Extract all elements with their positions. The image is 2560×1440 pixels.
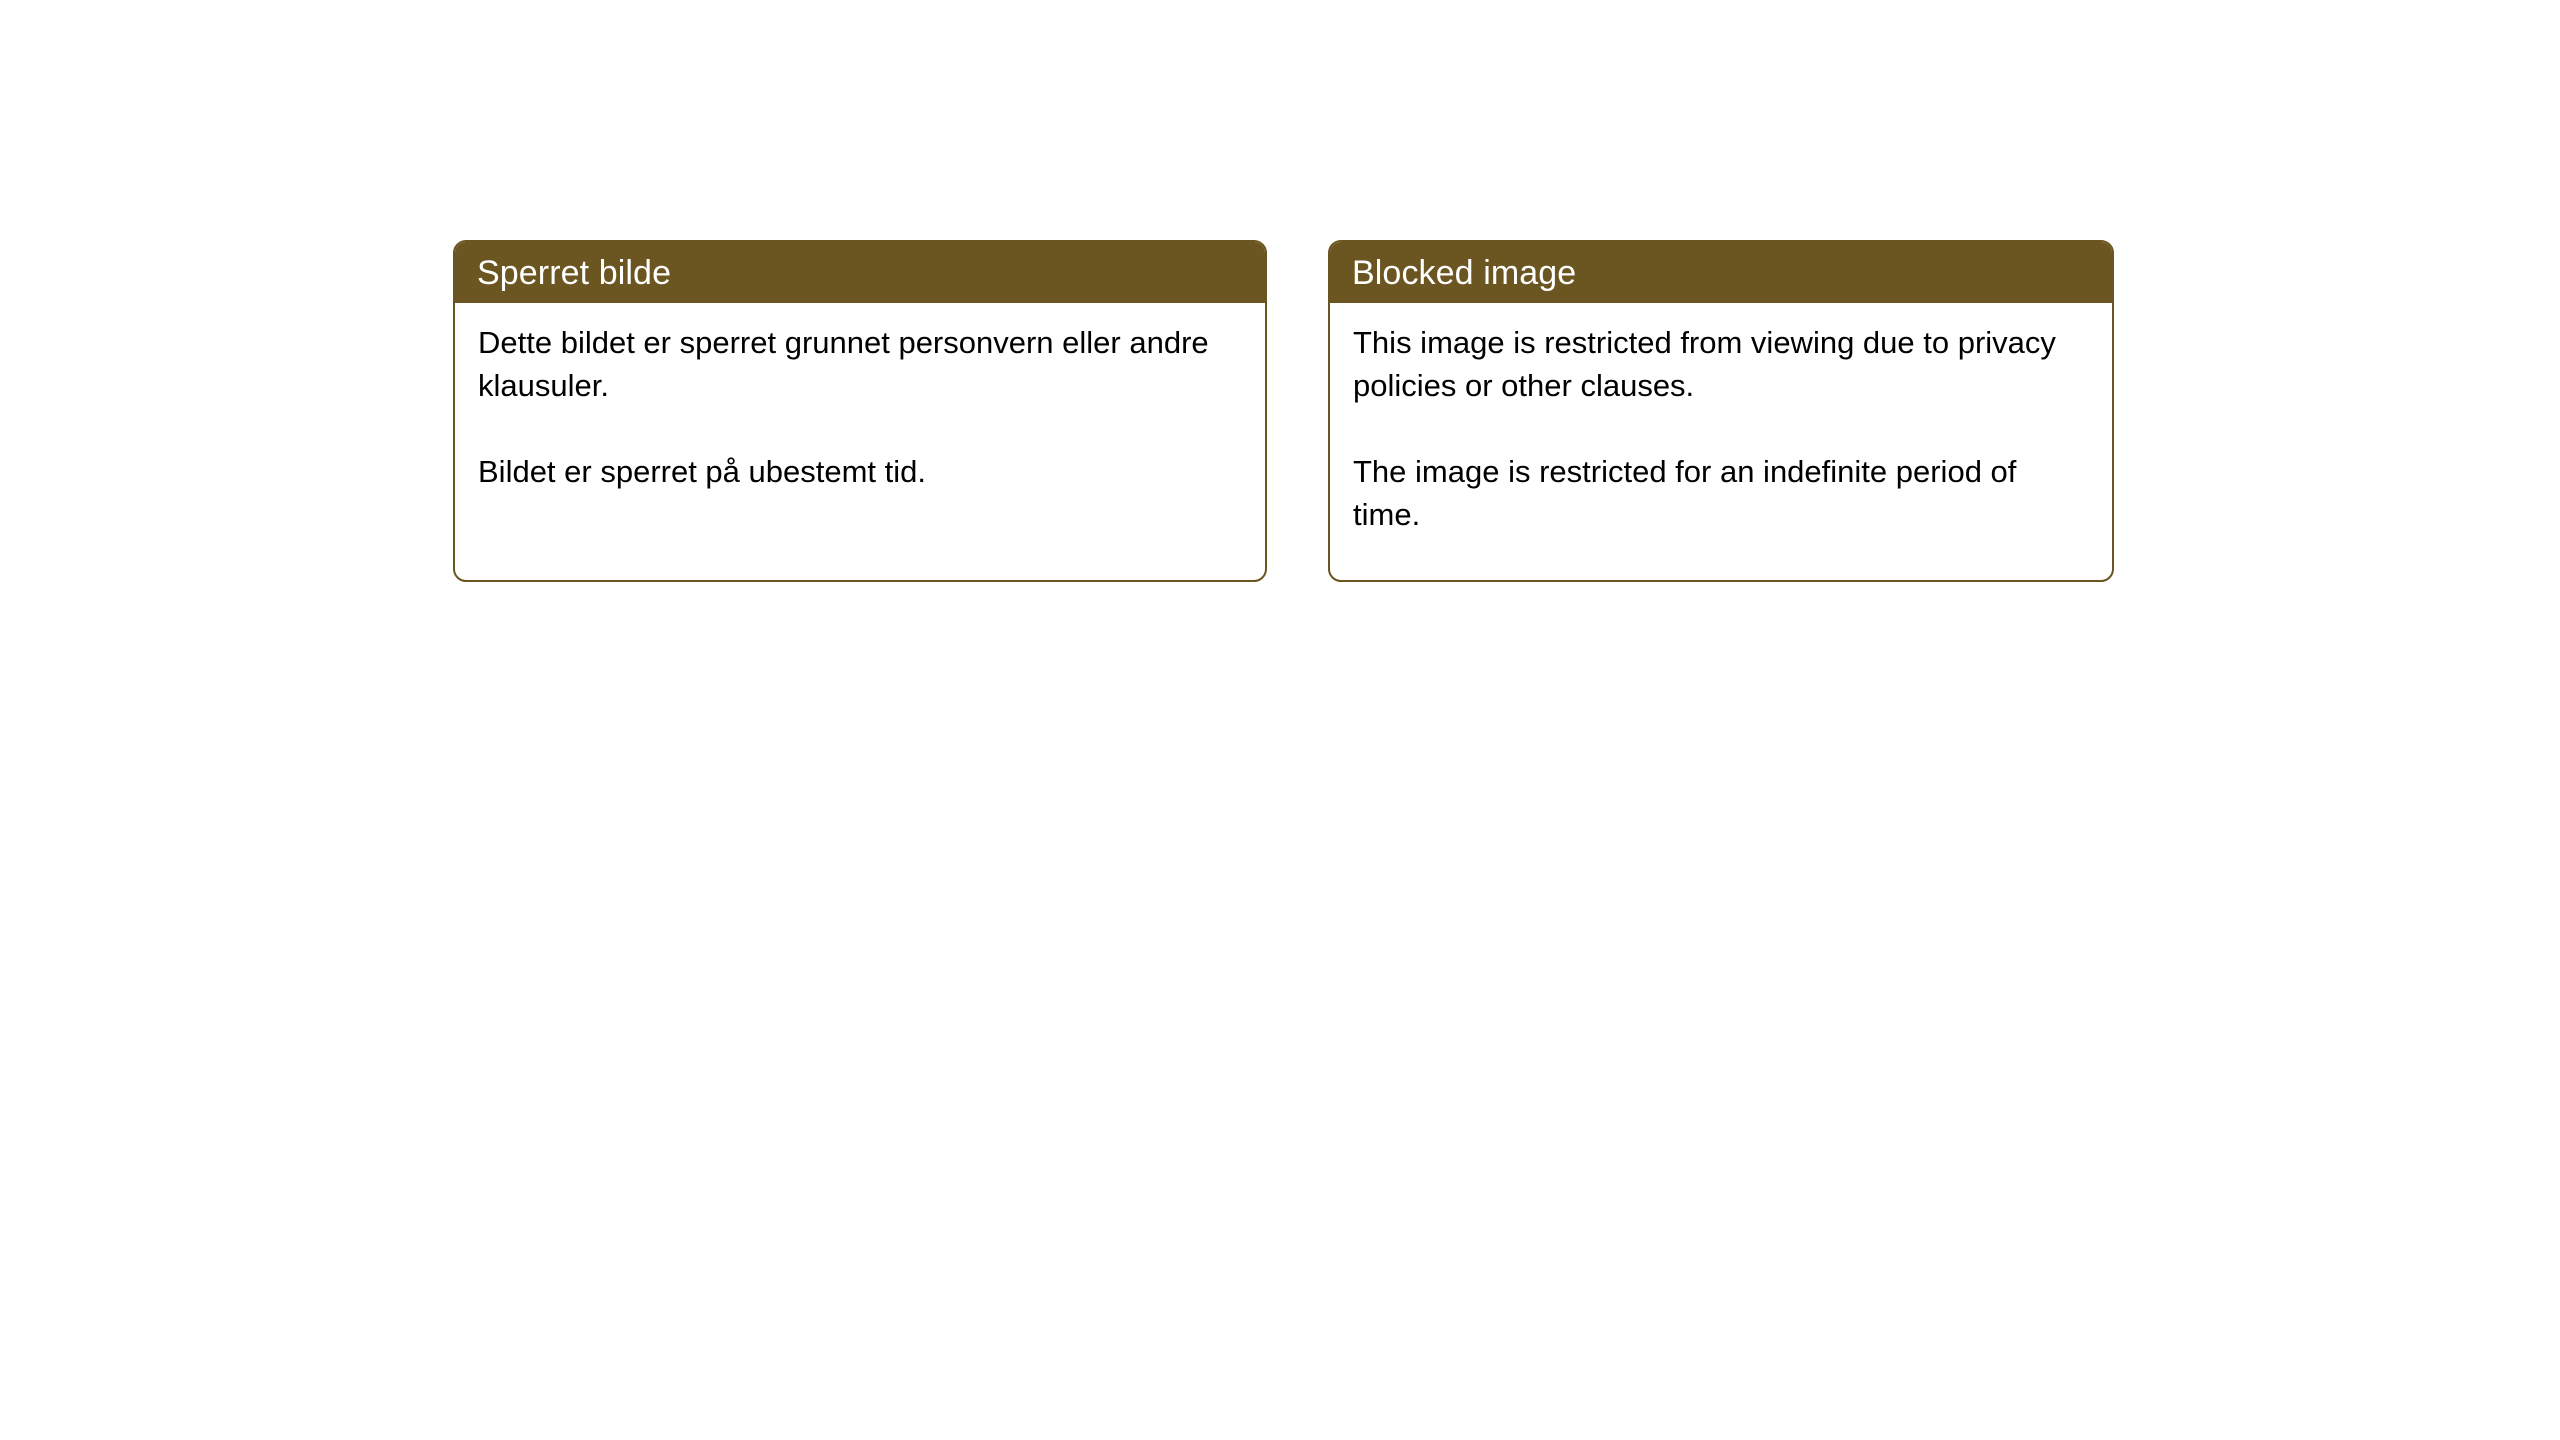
card-paragraph-secondary-en: The image is restricted for an indefinit… <box>1353 450 2086 536</box>
card-header-no: Sperret bilde <box>455 242 1265 303</box>
blocked-image-notice-card-en: Blocked image This image is restricted f… <box>1328 240 2114 582</box>
card-title-en: Blocked image <box>1352 256 1576 290</box>
card-paragraph-primary-en: This image is restricted from viewing du… <box>1353 321 2086 407</box>
page-canvas: Sperret bilde Dette bildet er sperret gr… <box>0 0 2560 1440</box>
card-body-en: This image is restricted from viewing du… <box>1330 303 2112 536</box>
card-paragraph-primary-no: Dette bildet er sperret grunnet personve… <box>478 321 1239 407</box>
card-title-no: Sperret bilde <box>477 256 671 290</box>
card-header-en: Blocked image <box>1330 242 2112 303</box>
blocked-image-notice-card-no: Sperret bilde Dette bildet er sperret gr… <box>453 240 1267 582</box>
card-paragraph-secondary-no: Bildet er sperret på ubestemt tid. <box>478 450 1239 493</box>
card-body-no: Dette bildet er sperret grunnet personve… <box>455 303 1265 493</box>
